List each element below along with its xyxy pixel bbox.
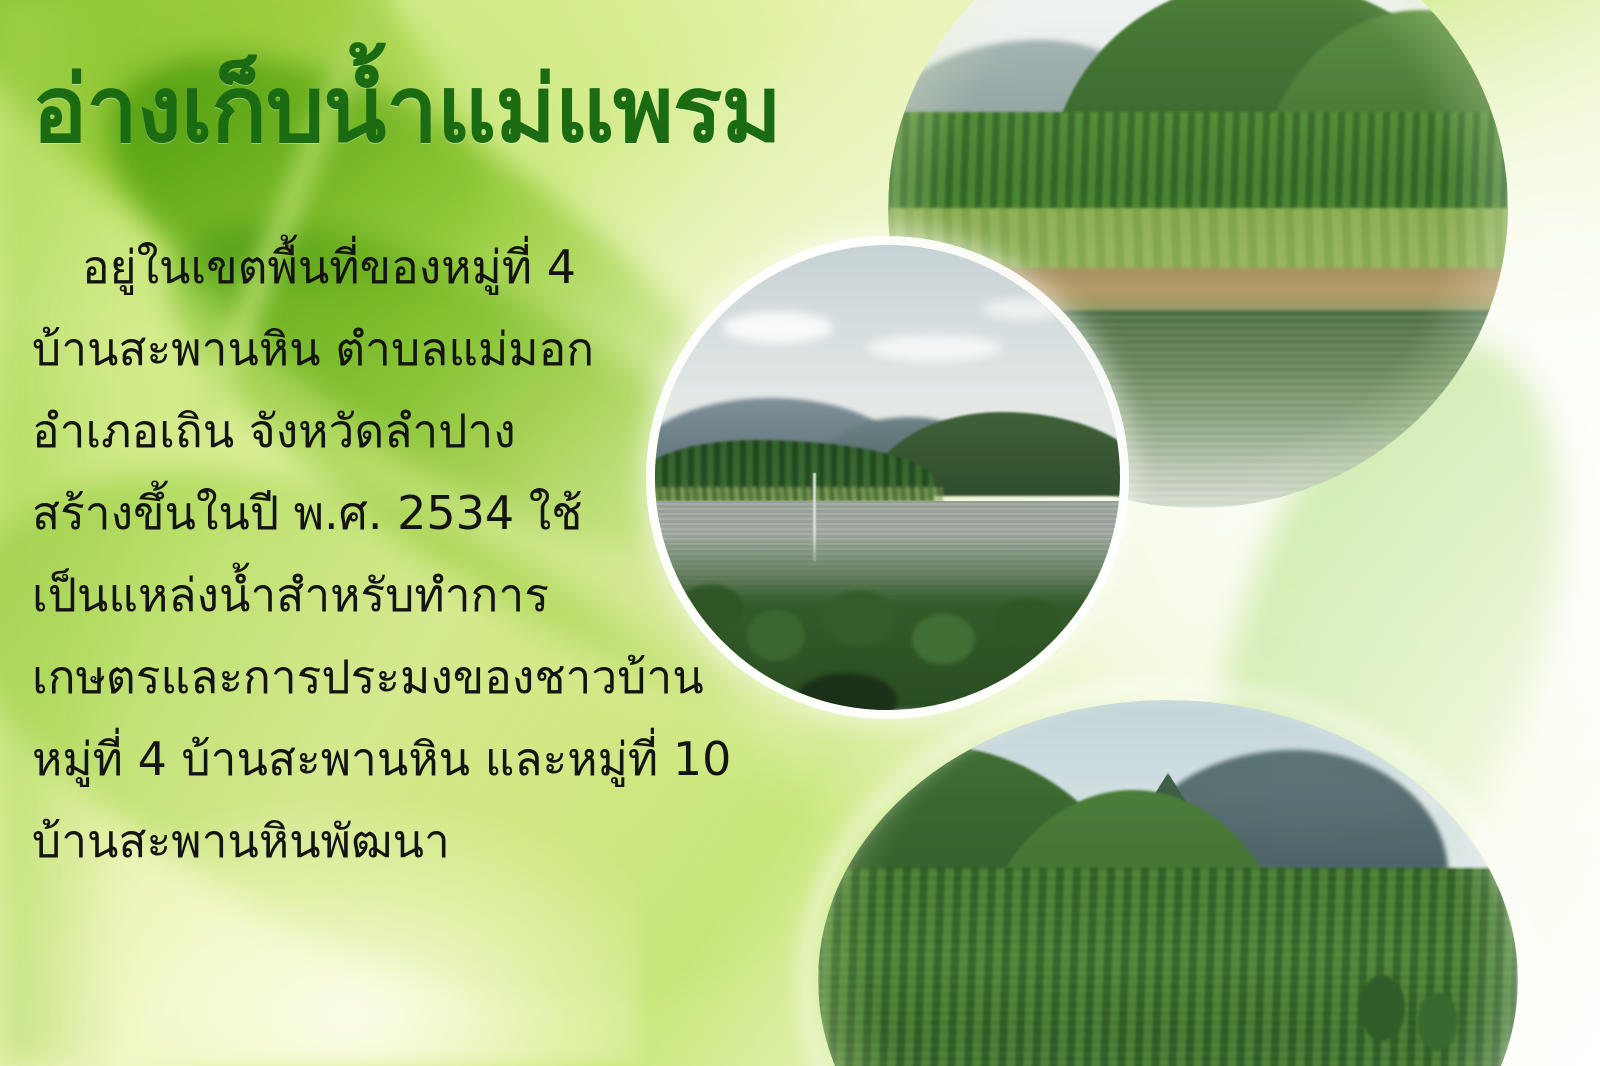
slide-title: อ่างเก็บน้ำแม่แพรม <box>32 58 781 161</box>
body-line: บ้านสะพานหิน ตำบลแม่มอก <box>32 308 862 390</box>
photo-bottom-right <box>818 700 1518 1066</box>
slide-canvas: อ่างเก็บน้ำแม่แพรม อยู่ในเขตพื้นที่ของหม… <box>0 0 1600 1066</box>
body-line: อยู่ในเขตพื้นที่ของหมู่ที่ 4 <box>32 226 862 308</box>
body-line: เกษตรและการประมงของชาวบ้าน <box>32 636 862 718</box>
body-line: เป็นแหล่งน้ำสำหรับทำการ <box>32 554 862 636</box>
body-line: อำเภอเถิน จังหวัดลำปาง <box>32 390 862 472</box>
photo-foreground-tree <box>1336 924 1490 1066</box>
photo-bottom-right-image <box>818 700 1518 1066</box>
body-line: บ้านสะพานหินพัฒนา <box>32 800 862 882</box>
body-line: หมู่ที่ 4 บ้านสะพานหิน และหมู่ที่ 10 <box>32 718 862 800</box>
body-line: สร้างขึ้นในปี พ.ศ. 2534 ใช้ <box>32 472 862 554</box>
slide-body-text: อยู่ในเขตพื้นที่ของหมู่ที่ 4 บ้านสะพานหิ… <box>32 226 862 882</box>
